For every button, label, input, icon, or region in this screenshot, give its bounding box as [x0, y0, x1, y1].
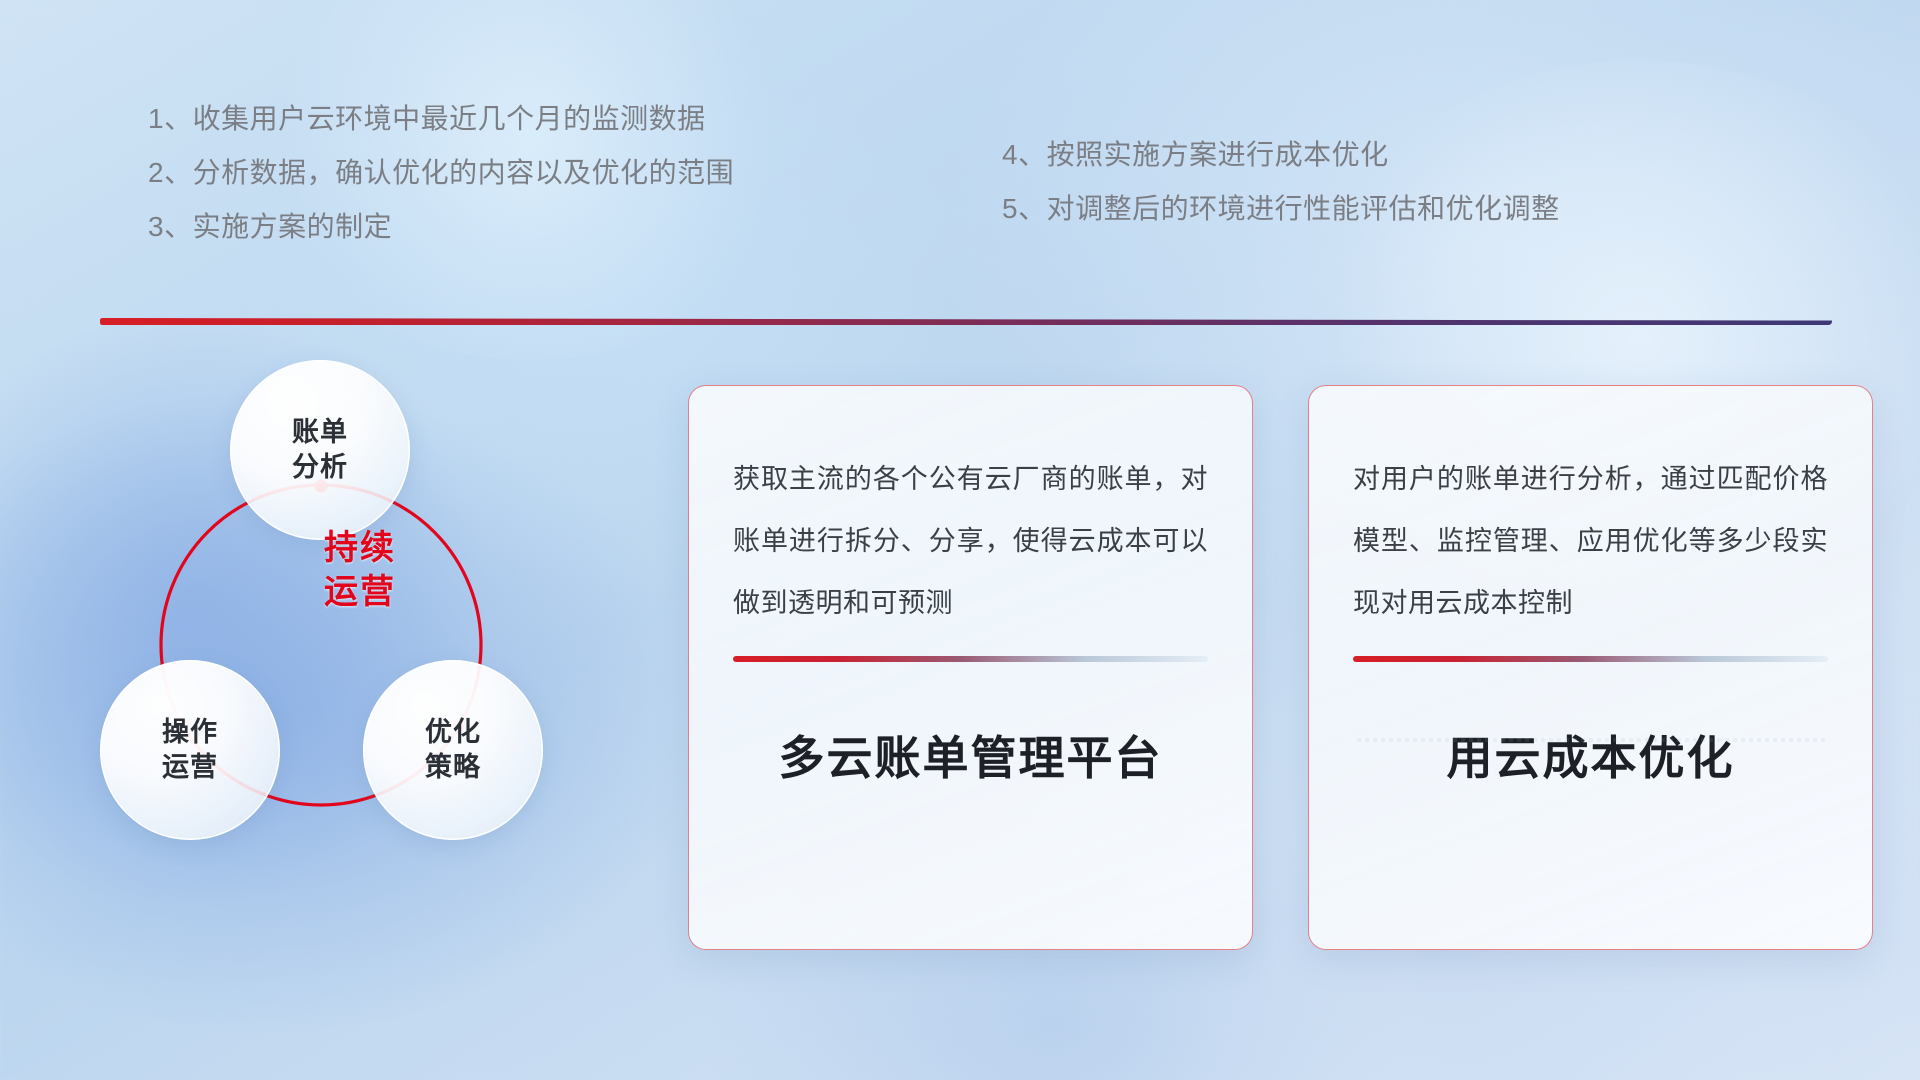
- steps-list: 1、收集用户云环境中最近几个月的监测数据 2、分析数据，确认优化的内容以及优化的…: [0, 92, 1920, 252]
- step-item-3: 3、实施方案的制定: [148, 200, 734, 254]
- card-body-text: 获取主流的各个公有云厂商的账单，对账单进行拆分、分享，使得云成本可以做到透明和可…: [733, 448, 1208, 634]
- steps-column-left: 1、收集用户云环境中最近几个月的监测数据 2、分析数据，确认优化的内容以及优化的…: [148, 92, 734, 254]
- card-body-text: 对用户的账单进行分析，通过匹配价格模型、监控管理、应用优化等多少段实现对用云成本…: [1353, 448, 1828, 634]
- card-title: 用云成本优化: [1353, 722, 1828, 788]
- venn-bubble-optimization-strategy[interactable]: 优化 策略: [363, 660, 543, 840]
- venn-center-label: 持续 运营: [260, 520, 460, 620]
- card-divider: [1353, 656, 1828, 662]
- venn-bubble-label: 优化 策略: [425, 715, 481, 785]
- feature-card-multicloud-billing[interactable]: 获取主流的各个公有云厂商的账单，对账单进行拆分、分享，使得云成本可以做到透明和可…: [688, 385, 1253, 950]
- card-dotted-line: [1353, 738, 1828, 742]
- card-title: 多云账单管理平台: [733, 722, 1208, 788]
- step-item-2: 2、分析数据，确认优化的内容以及优化的范围: [148, 146, 734, 200]
- step-item-1: 1、收集用户云环境中最近几个月的监测数据: [148, 92, 734, 146]
- step-item-5: 5、对调整后的环境进行性能评估和优化调整: [1002, 182, 1560, 236]
- venn-diagram: 账单 分析 操作 运营 优化 策略 持续 运营: [100, 355, 620, 935]
- venn-bubble-billing-analysis[interactable]: 账单 分析: [230, 360, 410, 540]
- step-item-4: 4、按照实施方案进行成本优化: [1002, 128, 1560, 182]
- venn-bubble-label: 操作 运营: [162, 715, 218, 785]
- section-divider: [100, 318, 1832, 325]
- steps-column-right: 4、按照实施方案进行成本优化 5、对调整后的环境进行性能评估和优化调整: [1002, 128, 1560, 236]
- card-divider: [733, 656, 1208, 662]
- venn-bubble-label: 账单 分析: [292, 415, 348, 485]
- venn-bubble-operations[interactable]: 操作 运营: [100, 660, 280, 840]
- feature-card-cost-optimization[interactable]: 对用户的账单进行分析，通过匹配价格模型、监控管理、应用优化等多少段实现对用云成本…: [1308, 385, 1873, 950]
